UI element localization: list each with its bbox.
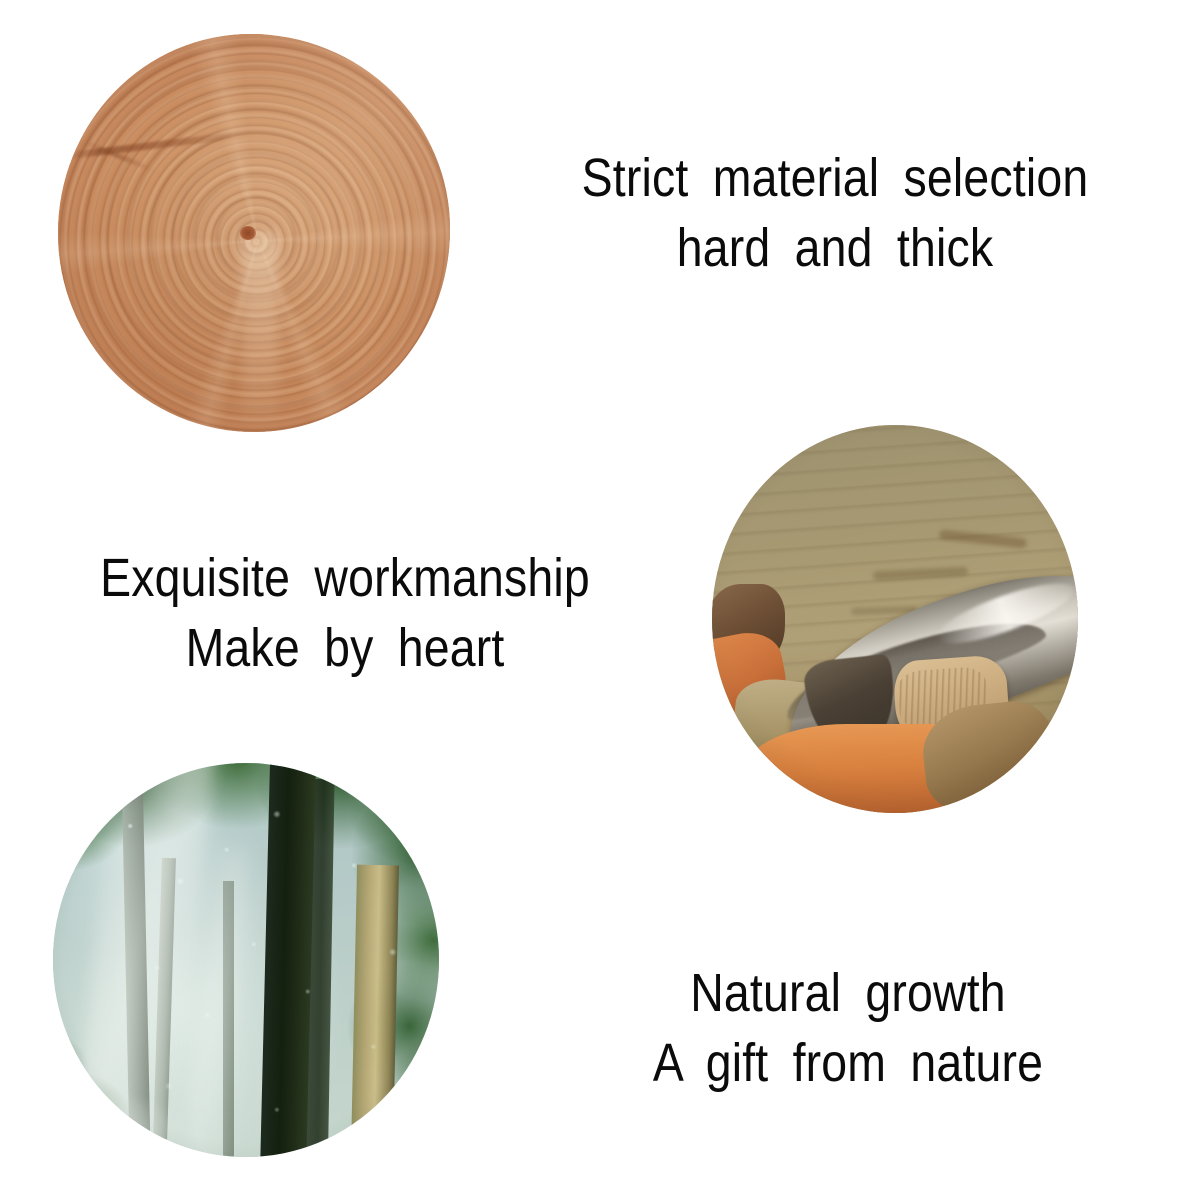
- caption-natural-line1: Natural growth: [653, 958, 1043, 1028]
- forest-photo: [53, 763, 439, 1157]
- infographic-canvas: Strict material selection hard and thick…: [0, 0, 1200, 1200]
- caption-material-selection: Strict material selection hard and thick: [582, 143, 1089, 283]
- caption-workmanship-line2: Make by heart: [100, 613, 590, 683]
- wood-cross-section-photo: [58, 34, 450, 432]
- caption-workmanship-line1: Exquisite workmanship: [100, 543, 590, 613]
- caption-natural-line2: A gift from nature: [653, 1028, 1043, 1098]
- forest-vignette: [53, 763, 439, 1157]
- wood-carving-photo: [712, 425, 1078, 813]
- caption-material-line1: Strict material selection: [582, 143, 1089, 213]
- carving-vignette: [712, 425, 1078, 813]
- caption-material-line2: hard and thick: [582, 213, 1089, 283]
- wood-shading-overlay: [58, 34, 450, 432]
- caption-workmanship: Exquisite workmanship Make by heart: [100, 543, 590, 683]
- caption-natural-growth: Natural growth A gift from nature: [653, 958, 1043, 1098]
